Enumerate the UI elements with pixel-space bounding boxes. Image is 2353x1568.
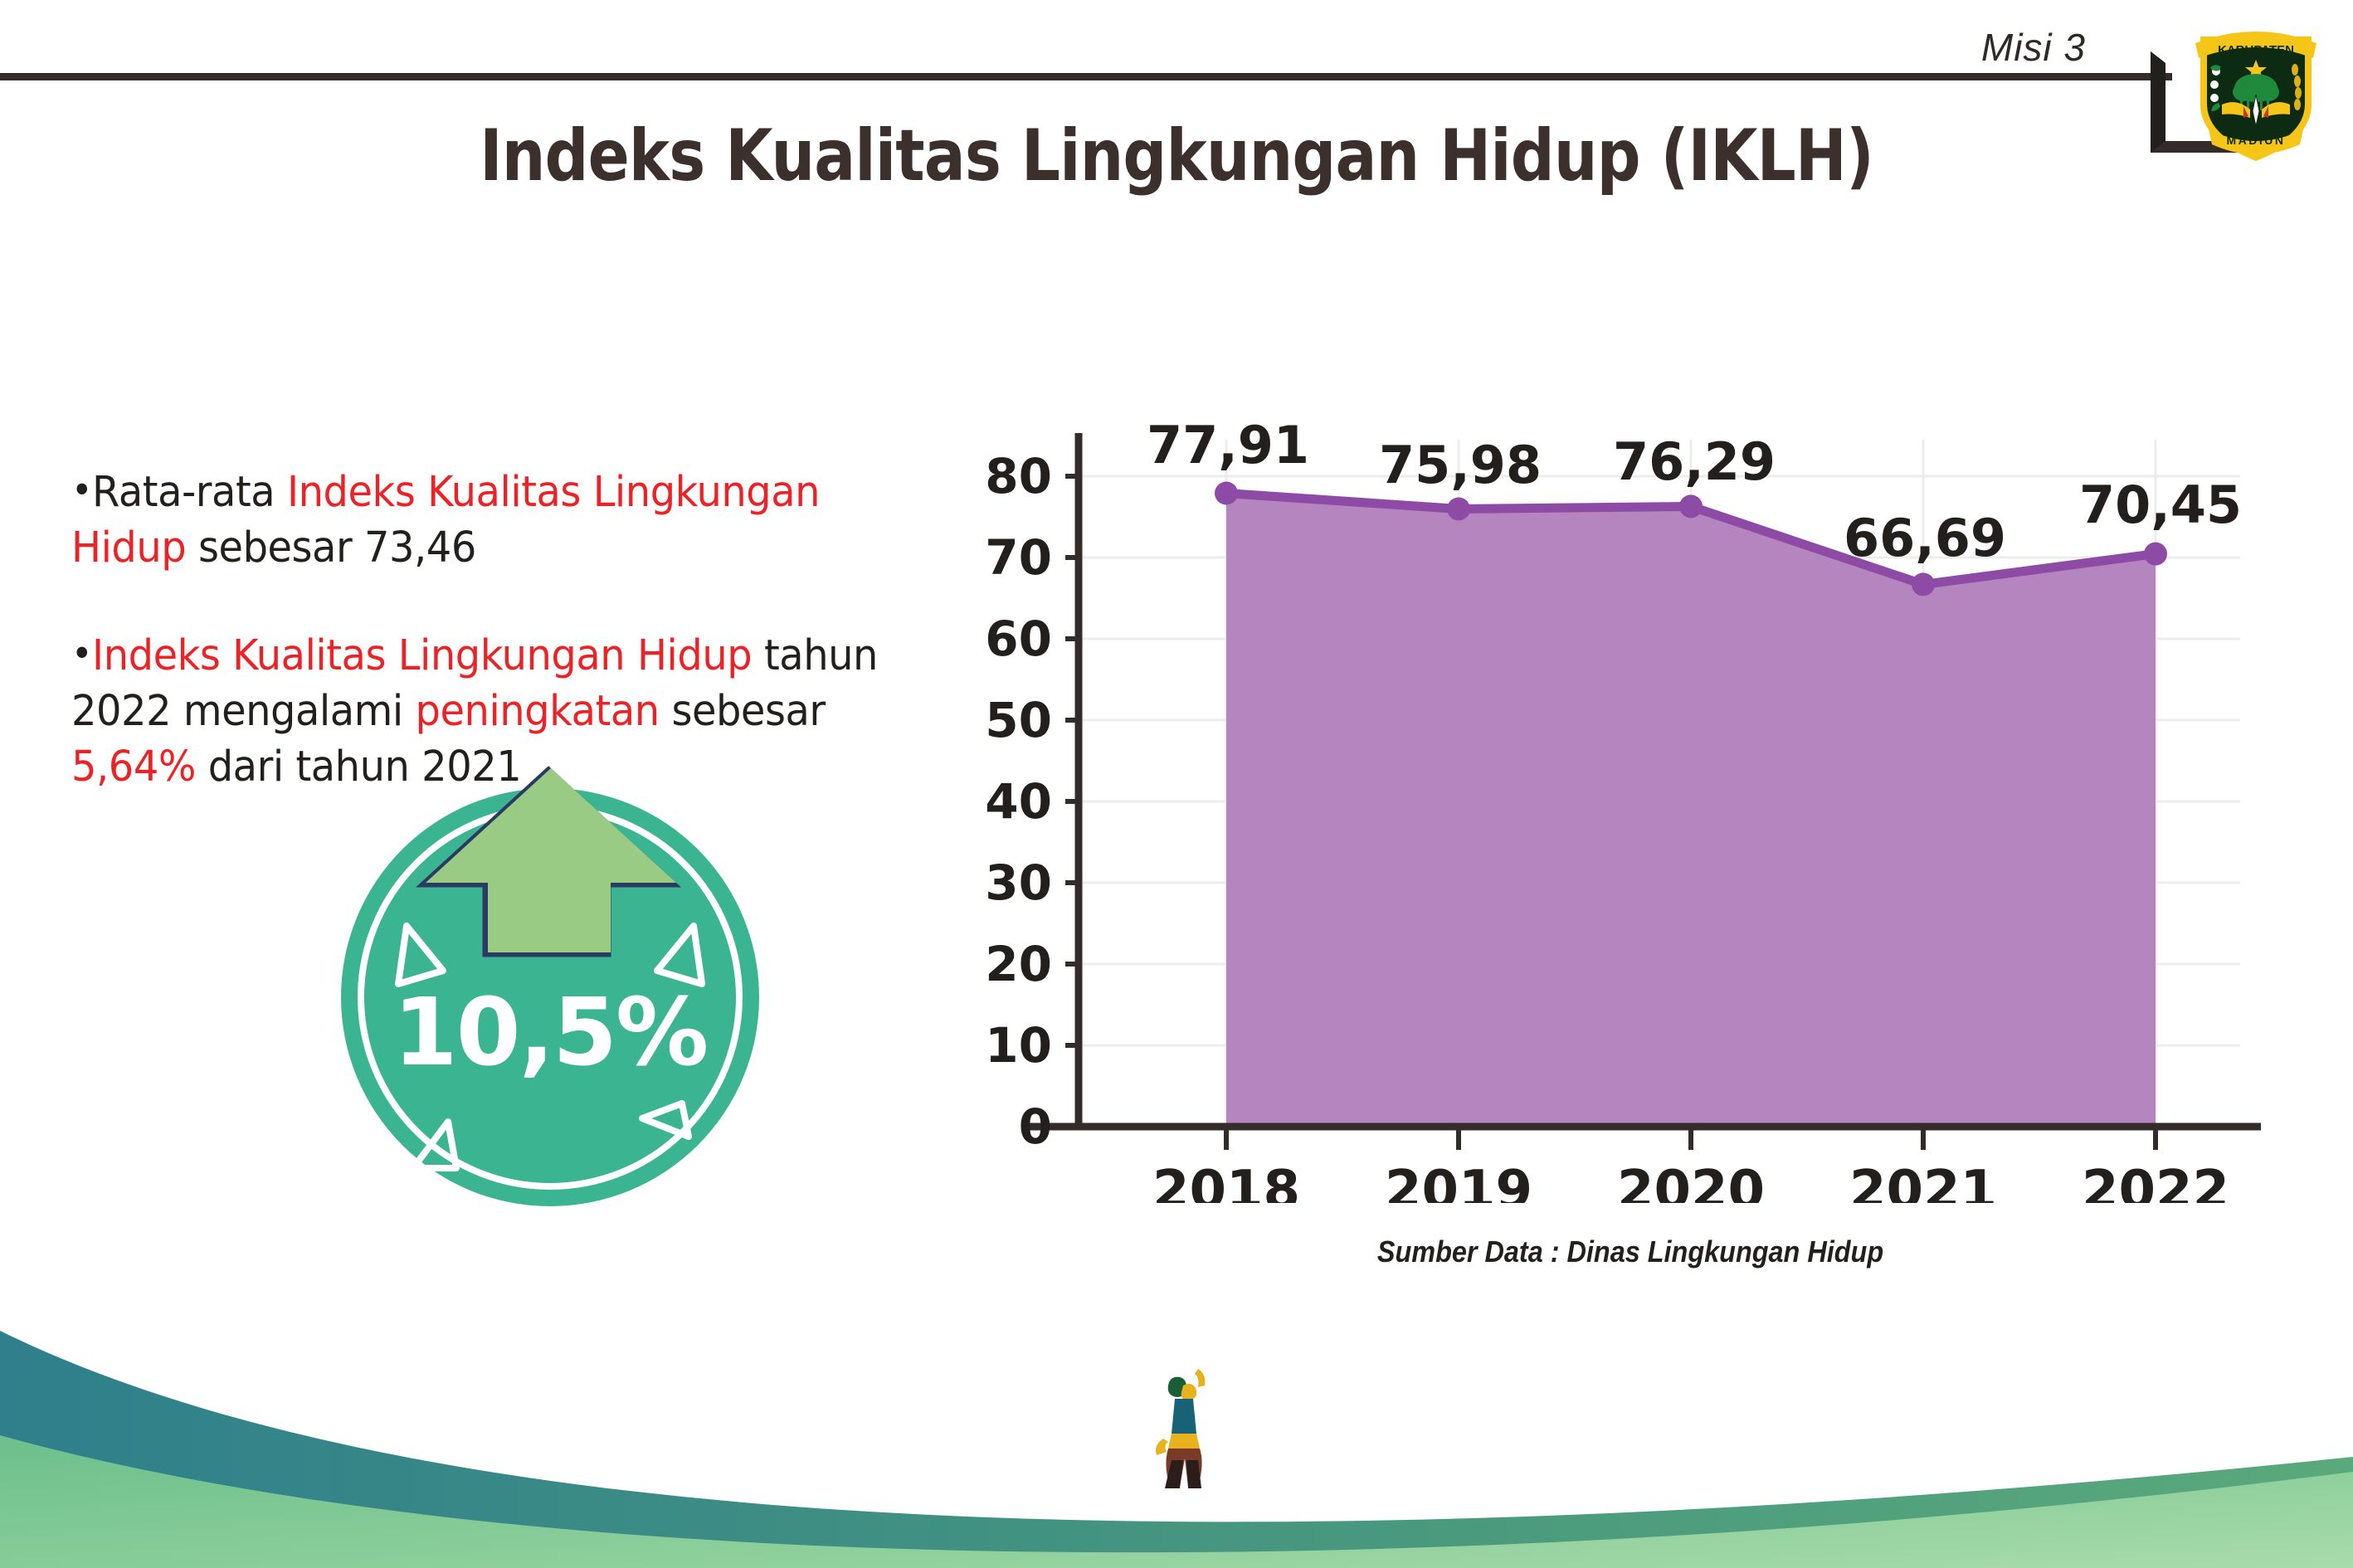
y-tick-label: 20 [985,936,1052,992]
chart-x-tick-labels: 2018 2019 2020 2021 2022 [1152,1160,2229,1203]
y-tick-label: 40 [985,773,1052,830]
bullet-segment: sebesar 73,46 [186,523,476,572]
x-tick-label: 2022 [2082,1160,2229,1203]
bullet-segment: Rata-rata [92,468,287,517]
page-title: Indeks Kualitas Lingkungan Hidup (IKLH) [165,114,2189,197]
y-tick-label: 10 [985,1017,1052,1074]
footer-banner: Media Infografis Data Statistik Sektoral… [0,1294,2353,1568]
chart-area-fill [1226,494,2156,1127]
chart-source-caption: Sumber Data : Dinas Lingkungan Hidup [1134,1234,2127,1269]
bullet-marker: • [71,631,92,675]
x-tick-label: 2021 [1849,1160,1997,1203]
logo-top-text: KABUPATEN [2218,43,2294,57]
bullet-item: •Rata-rata Indeks Kualitas Lingkungan Hi… [71,465,937,577]
bullet-segment-highlight: peningkatan [416,687,660,736]
summary-bullets: •Rata-rata Indeks Kualitas Lingkungan Hi… [71,465,992,796]
bullet-segment-highlight: Indeks Kualitas Lingkungan Hidup [92,631,752,680]
badge-value: 10,5% [330,979,770,1087]
data-label: 77,91 [1147,415,1309,475]
y-tick-label: 60 [985,611,1052,667]
chart-y-tick-labels: 0 10 20 30 40 50 60 70 80 [985,448,1052,1155]
data-label: 76,29 [1613,431,1776,492]
logo-bottom-text: MADIUN [2227,134,2286,147]
misi-label: Misi 3 [1981,25,2086,70]
bullet-segment-highlight: 5,64% [71,743,196,791]
y-tick-label: 80 [985,448,1052,504]
x-tick-label: 2018 [1152,1160,1300,1203]
bullet-segment: sebesar [660,687,826,736]
header-divider-rule [0,73,2172,80]
y-tick-label: 50 [985,692,1052,748]
y-tick-label: 70 [985,529,1052,586]
data-label: 66,69 [1844,508,2006,568]
footer-caption: Media Infografis Data Statistik Sektoral… [1220,1421,2201,1467]
data-label: 75,98 [1379,435,1542,495]
bullet-marker: • [71,467,92,512]
data-label: 70,45 [2079,475,2242,535]
y-tick-label: 0 [1019,1098,1052,1155]
x-tick-label: 2020 [1617,1160,1765,1203]
x-tick-label: 2019 [1385,1160,1532,1203]
y-tick-label: 30 [985,855,1052,911]
iklh-area-chart: 0 10 20 30 40 50 60 70 80 2018 2019 2020… [979,290,2273,1294]
kabupaten-madiun-logo: KABUPATEN MADIUN [2189,15,2323,166]
increase-badge: 10,5% [330,747,770,1211]
chart-canvas: 0 10 20 30 40 50 60 70 80 2018 2019 2020… [979,290,2273,1203]
